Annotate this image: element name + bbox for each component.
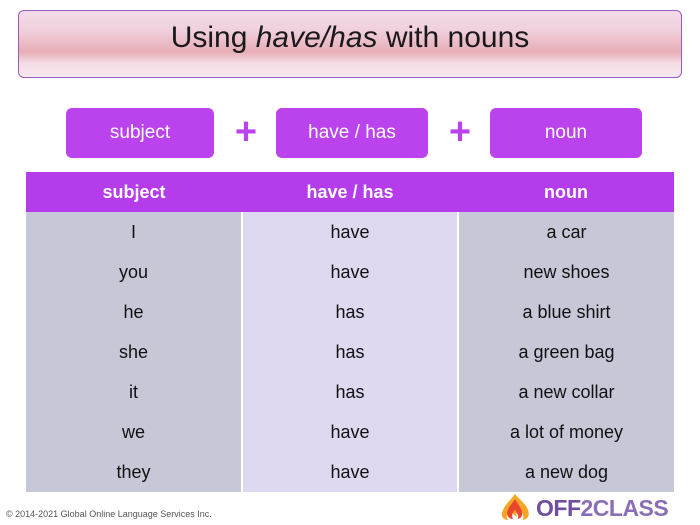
cell-have-has: has [242,332,458,372]
column-header-have-has: have / has [242,172,458,212]
table-row: she has a green bag [26,332,674,372]
cell-have-has: has [242,292,458,332]
title-prefix: Using [171,21,256,54]
table-row: you have new shoes [26,252,674,292]
brand-logo: OFF2CLASS [494,493,694,523]
title-suffix: with nouns [378,21,530,54]
cell-subject: she [26,332,242,372]
examples-table: subject have / has noun I have a car you… [26,172,674,492]
chip-have-has: have / has [276,108,428,158]
copyright-notice: © 2014-2021 Global Online Language Servi… [6,509,212,519]
cell-subject: he [26,292,242,332]
cell-noun: a lot of money [458,412,674,452]
logo-text-part2: 2CLASS [581,495,669,521]
formula-row: subject + have / has + noun [0,108,700,164]
column-header-subject: subject [26,172,242,212]
cell-subject: they [26,452,242,492]
cell-noun: new shoes [458,252,674,292]
cell-have-has: has [242,372,458,412]
table-row: he has a blue shirt [26,292,674,332]
chip-noun: noun [490,108,642,158]
cell-subject: I [26,212,242,252]
plus-icon: + [230,117,262,149]
table-header-row: subject have / has noun [26,172,674,212]
cell-noun: a blue shirt [458,292,674,332]
cell-noun: a car [458,212,674,252]
title-emphasis: have/has [256,21,378,54]
table-row: it has a new collar [26,372,674,412]
chip-subject: subject [66,108,214,158]
logo-text-part1: OFF [536,495,581,521]
title-banner: Using have/has with nouns [18,10,682,78]
cell-noun: a green bag [458,332,674,372]
page-title: Using have/has with nouns [19,11,681,65]
table-row: they have a new dog [26,452,674,492]
cell-subject: it [26,372,242,412]
cell-noun: a new dog [458,452,674,492]
cell-noun: a new collar [458,372,674,412]
plus-icon: + [444,117,476,149]
cell-have-has: have [242,412,458,452]
table-row: we have a lot of money [26,412,674,452]
cell-have-has: have [242,452,458,492]
flame-icon [498,493,532,521]
column-header-noun: noun [458,172,674,212]
cell-subject: we [26,412,242,452]
cell-have-has: have [242,212,458,252]
cell-have-has: have [242,252,458,292]
logo-text: OFF2CLASS [536,495,668,522]
table-row: I have a car [26,212,674,252]
cell-subject: you [26,252,242,292]
